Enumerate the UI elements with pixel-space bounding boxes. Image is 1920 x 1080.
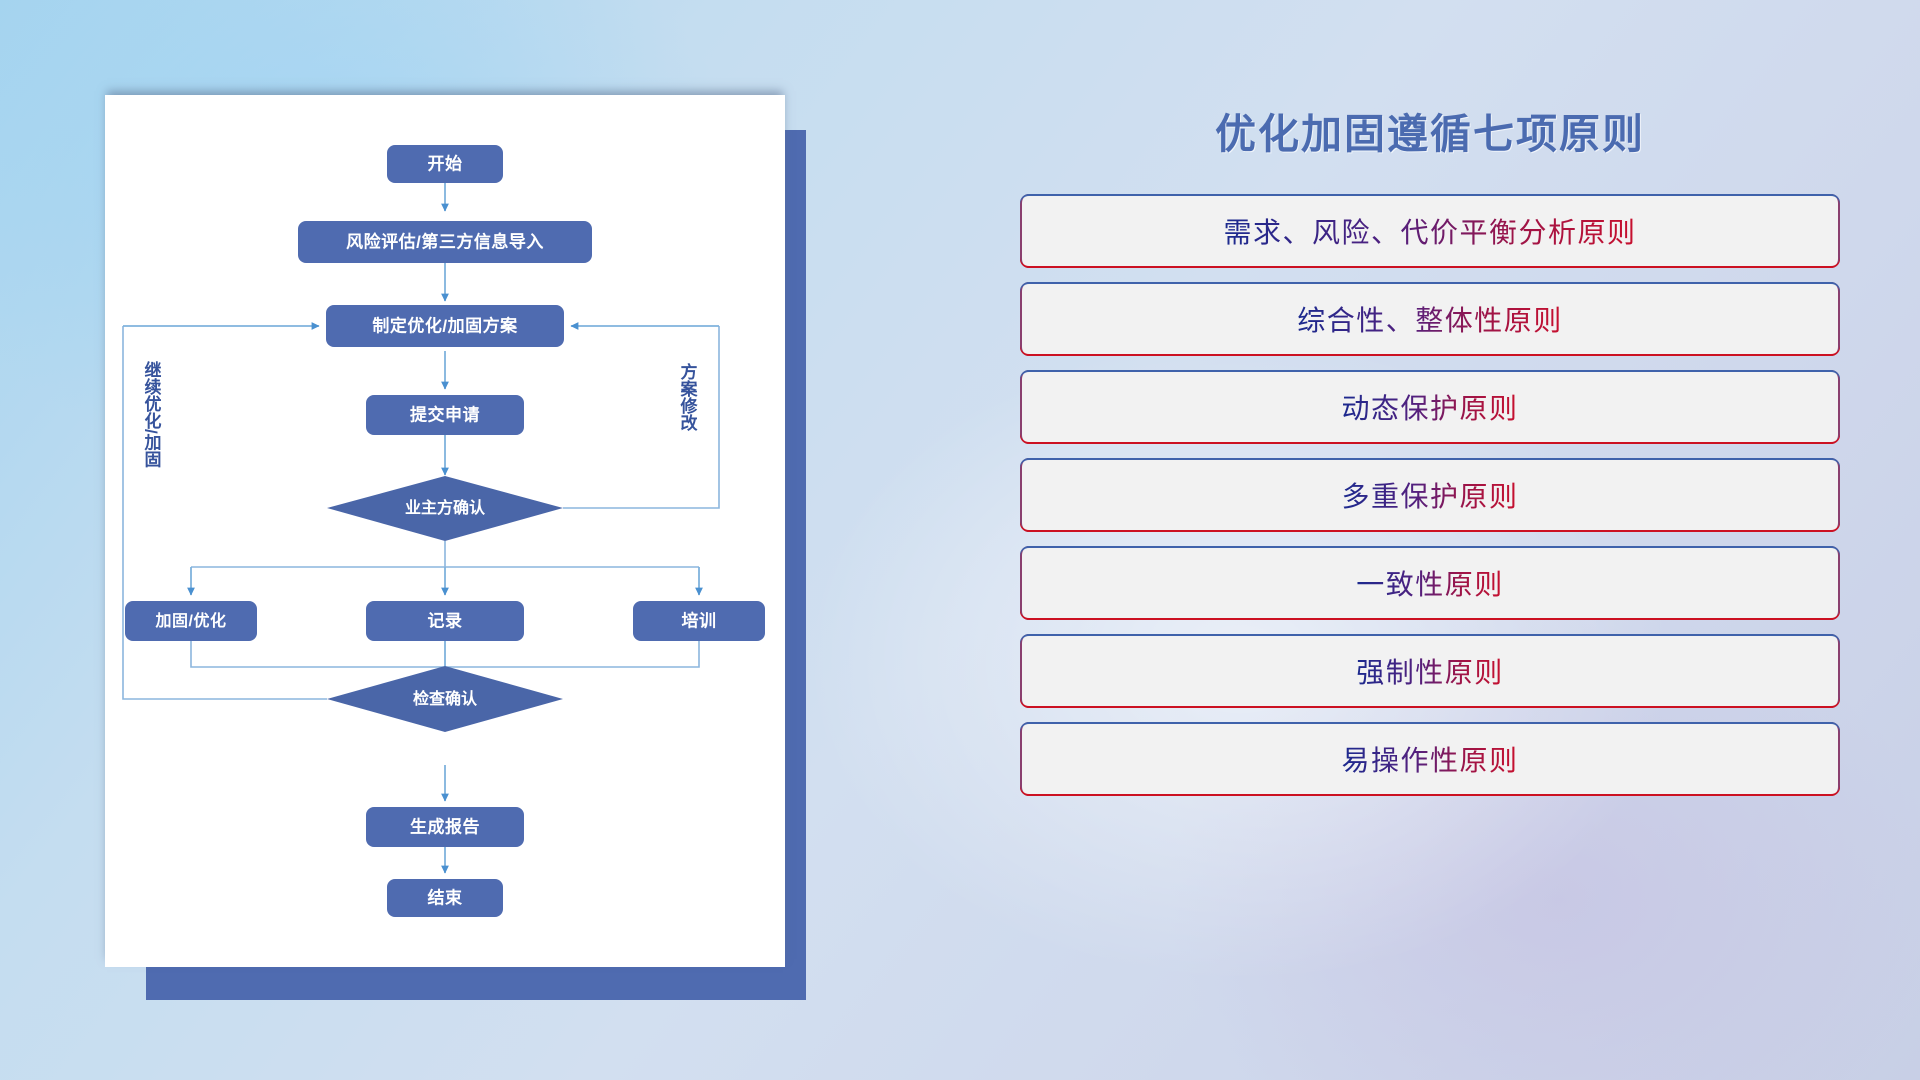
flow-node-start[interactable]: 开始	[387, 145, 503, 183]
principle-card[interactable]: 强制性原则	[1020, 634, 1840, 708]
principle-card[interactable]: 易操作性原则	[1020, 722, 1840, 796]
flow-node-check-confirm-label: 检查确认	[413, 689, 478, 708]
flow-node-risk-assessment-label: 风险评估/第三方信息导入	[346, 231, 544, 251]
principle-label: 需求、风险、代价平衡分析原则	[1223, 211, 1636, 251]
principle-label: 动态保护原则	[1341, 387, 1518, 427]
flow-node-training[interactable]: 培训	[633, 601, 765, 641]
flow-node-plan-label: 制定优化/加固方案	[372, 315, 518, 335]
principle-label: 一致性原则	[1356, 563, 1504, 603]
flow-node-submit[interactable]: 提交申请	[366, 395, 524, 435]
principle-label: 易操作性原则	[1341, 739, 1518, 779]
principle-label: 多重保护原则	[1341, 475, 1518, 515]
principle-label: 综合性、整体性原则	[1297, 299, 1563, 339]
flow-node-report[interactable]: 生成报告	[366, 807, 524, 847]
principles-title: 优化加固遵循七项原则	[1020, 100, 1840, 160]
flow-node-submit-label: 提交申请	[410, 404, 480, 424]
principle-card[interactable]: 需求、风险、代价平衡分析原则	[1020, 194, 1840, 268]
flow-node-report-label: 生成报告	[410, 816, 480, 836]
flow-node-check-confirm[interactable]: 检查确认	[327, 666, 563, 732]
flow-node-reinforce[interactable]: 加固/优化	[125, 601, 257, 641]
flow-node-end-label: 结束	[428, 887, 463, 907]
edge-training-merge	[445, 641, 699, 667]
edge-confirm-split-left	[191, 541, 445, 567]
principle-card[interactable]: 动态保护原则	[1020, 370, 1840, 444]
flow-node-end[interactable]: 结束	[387, 879, 503, 917]
principle-label: 强制性原则	[1356, 651, 1504, 691]
flow-node-plan[interactable]: 制定优化/加固方案	[326, 305, 564, 347]
principle-card[interactable]: 一致性原则	[1020, 546, 1840, 620]
edge-label-right-loop: 方案修改	[678, 362, 699, 432]
flow-node-owner-confirm-label: 业主方确认	[405, 498, 486, 517]
flowchart-card: 开始 风险评估/第三方信息导入 制定优化/加固方案 提交申请 业主方确认 加固/…	[105, 95, 785, 967]
flow-node-owner-confirm[interactable]: 业主方确认	[327, 476, 563, 541]
principle-card[interactable]: 多重保护原则	[1020, 458, 1840, 532]
flow-node-record[interactable]: 记录	[366, 601, 524, 641]
flow-node-reinforce-label: 加固/优化	[155, 611, 227, 630]
flow-node-record-label: 记录	[428, 611, 463, 630]
principles-panel: 优化加固遵循七项原则 需求、风险、代价平衡分析原则 综合性、整体性原则 动态保护…	[1020, 100, 1840, 1000]
flowchart-svg: 开始 风险评估/第三方信息导入 制定优化/加固方案 提交申请 业主方确认 加固/…	[105, 95, 785, 967]
edge-label-left-loop: 继续优化/加固	[142, 360, 163, 469]
flow-node-start-label: 开始	[428, 153, 463, 173]
principle-card[interactable]: 综合性、整体性原则	[1020, 282, 1840, 356]
flow-node-risk-assessment[interactable]: 风险评估/第三方信息导入	[298, 221, 592, 263]
edge-reinforce-merge	[191, 641, 445, 667]
flow-node-training-label: 培训	[682, 610, 717, 630]
